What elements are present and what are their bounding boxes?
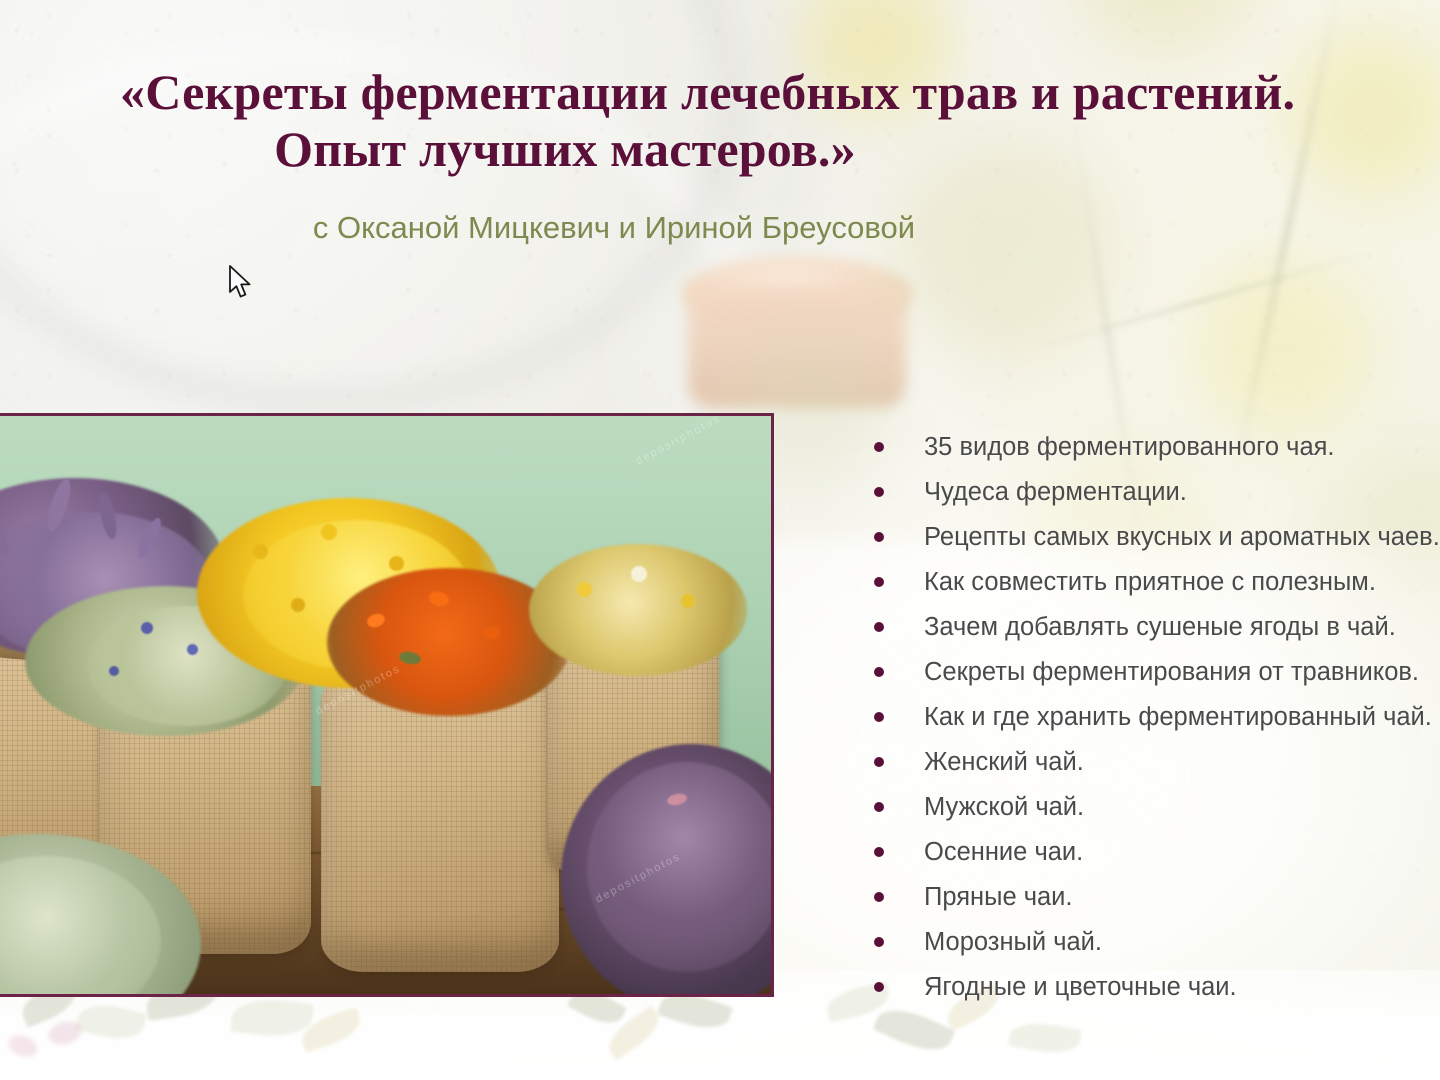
bullet-dot-icon [874, 982, 884, 992]
list-item-label: Мужской чай. [924, 792, 1084, 822]
list-item-label: Морозный чай. [924, 927, 1102, 957]
list-item-label: Как совместить приятное с полезным. [924, 567, 1376, 597]
background-leaf [230, 996, 313, 1040]
photo-flower-blue [187, 644, 198, 655]
bullet-dot-icon [874, 577, 884, 587]
herbs-photo: depositphotos depositphotos depositphoto… [0, 413, 774, 997]
list-item-label: Пряные чаи. [924, 882, 1073, 912]
bullet-dot-icon [874, 892, 884, 902]
list-item-label: Как и где хранить ферментированный чай. [924, 702, 1432, 732]
list-item: Зачем добавлять сушеные ягоды в чай. [874, 604, 1440, 649]
photo-bud-yellow [253, 544, 268, 559]
bullet-dot-icon [874, 622, 884, 632]
list-item: Морозный чай. [874, 919, 1440, 964]
bullet-dot-icon [874, 757, 884, 767]
background-leaf [75, 998, 147, 1045]
list-item-label: Осенние чаи. [924, 837, 1083, 867]
photo-bud-white [631, 566, 647, 582]
photo-bud-yellow [321, 524, 337, 540]
background-leaf [1008, 1018, 1082, 1058]
topics-list: 35 видов ферментированного чая. Чудеса ф… [874, 424, 1440, 1009]
photo-flower-blue [109, 666, 119, 676]
title-line-1: «Секреты ферментации лечебных трав и рас… [0, 64, 1440, 121]
list-item: 35 видов ферментированного чая. [874, 424, 1440, 469]
list-item-label: 35 видов ферментированного чая. [924, 432, 1335, 462]
photo-bud-yellow [577, 582, 592, 597]
bullet-dot-icon [874, 487, 884, 497]
bullet-dot-icon [874, 847, 884, 857]
list-item: Пряные чаи. [874, 874, 1440, 919]
photo-bud-yellow [389, 556, 404, 571]
list-item: Рецепты самых вкусных и ароматных чаев. [874, 514, 1440, 559]
list-item: Осенние чаи. [874, 829, 1440, 874]
photo-bud-yellow [291, 598, 305, 612]
photo-flower-blue [141, 622, 153, 634]
slide-title: «Секреты ферментации лечебных трав и рас… [0, 64, 1440, 178]
list-item: Чудеса ферментации. [874, 469, 1440, 514]
list-item: Как и где хранить ферментированный чай. [874, 694, 1440, 739]
background-petal [5, 1031, 40, 1061]
list-item-label: Секреты ферментирования от травников. [924, 657, 1419, 687]
bullet-dot-icon [874, 667, 884, 677]
list-item: Как совместить приятное с полезным. [874, 559, 1440, 604]
bullet-dot-icon [874, 712, 884, 722]
title-line-2: Опыт лучших мастеров.» [0, 121, 1440, 178]
bullet-dot-icon [874, 937, 884, 947]
bullet-dot-icon [874, 442, 884, 452]
bullet-dot-icon [874, 802, 884, 812]
slide-subtitle: с Оксаной Мицкевич и Ириной Бреусовой [0, 208, 1440, 248]
list-item: Мужской чай. [874, 784, 1440, 829]
photo-herb-mixed [529, 544, 747, 676]
list-item-label: Ягодные и цветочные чаи. [924, 972, 1237, 1002]
list-item: Секреты ферментирования от травников. [874, 649, 1440, 694]
list-item-label: Зачем добавлять сушеные ягоды в чай. [924, 612, 1396, 642]
list-item-label: Рецепты самых вкусных и ароматных чаев. [924, 522, 1440, 552]
list-item: Ягодные и цветочные чаи. [874, 964, 1440, 1009]
presentation-slide: «Секреты ферментации лечебных трав и рас… [0, 0, 1440, 1080]
bullet-dot-icon [874, 532, 884, 542]
list-item: Женский чай. [874, 739, 1440, 784]
photo-bud-yellow [681, 594, 695, 608]
list-item-label: Женский чай. [924, 747, 1084, 777]
list-item-label: Чудеса ферментации. [924, 477, 1187, 507]
